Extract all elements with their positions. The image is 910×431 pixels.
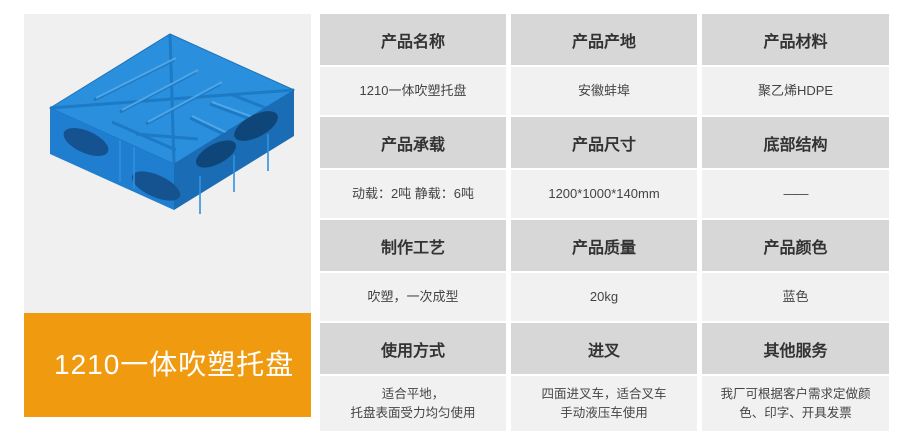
spec-value-cell: 聚乙烯HDPE	[702, 67, 889, 115]
spec-header-cell: 产品质量	[511, 220, 697, 271]
spec-value-cell: ——	[702, 170, 889, 218]
spec-value-line: 托盘表面受力均匀使用	[350, 404, 475, 422]
product-title: 1210一体吹塑托盘	[54, 351, 294, 379]
spec-header-cell: 产品颜色	[702, 220, 889, 271]
table-row: 适合平地， 托盘表面受力均匀使用 四面进叉车，适合叉车 手动液压车使用 我厂可根…	[320, 376, 889, 431]
spec-header-cell: 进叉	[511, 323, 697, 374]
table-row: 产品名称 产品产地 产品材料	[320, 14, 889, 65]
spec-header-cell: 其他服务	[702, 323, 889, 374]
spec-header-cell: 产品名称	[320, 14, 506, 65]
spec-value-cell: 我厂可根据客户需求定做颜 色、印字、开具发票	[702, 376, 889, 431]
spec-value-cell: 蓝色	[702, 273, 889, 321]
table-row: 1210一体吹塑托盘 安徽蚌埠 聚乙烯HDPE	[320, 67, 889, 115]
spec-value-cell: 1200*1000*140mm	[511, 170, 697, 218]
product-title-banner: 1210一体吹塑托盘	[24, 313, 311, 417]
spec-table: 产品名称 产品产地 产品材料 1210一体吹塑托盘 安徽蚌埠 聚乙烯HDPE 产…	[320, 14, 889, 415]
spec-value-cell: 20kg	[511, 273, 697, 321]
table-row: 动载：2吨 静载：6吨 1200*1000*140mm ——	[320, 170, 889, 218]
spec-header-cell: 产品产地	[511, 14, 697, 65]
spec-header-cell: 产品尺寸	[511, 117, 697, 168]
table-row: 吹塑，一次成型 20kg 蓝色	[320, 273, 889, 321]
spec-header-cell: 制作工艺	[320, 220, 506, 271]
spec-value-line: 四面进叉车，适合叉车	[541, 385, 666, 403]
table-row: 产品承载 产品尺寸 底部结构	[320, 117, 889, 168]
spec-header-cell: 使用方式	[320, 323, 506, 374]
table-row: 制作工艺 产品质量 产品颜色	[320, 220, 889, 271]
spec-value-cell: 动载：2吨 静载：6吨	[320, 170, 506, 218]
spec-header-cell: 产品承载	[320, 117, 506, 168]
spec-value-line: 色、印字、开具发票	[739, 404, 852, 422]
spec-value-line: 适合平地，	[382, 385, 445, 403]
spec-header-cell: 底部结构	[702, 117, 889, 168]
spec-header-cell: 产品材料	[702, 14, 889, 65]
product-photo	[24, 14, 311, 313]
spec-value-cell: 1210一体吹塑托盘	[320, 67, 506, 115]
product-media-panel: 1210一体吹塑托盘	[24, 14, 311, 417]
spec-value-line: 我厂可根据客户需求定做颜	[720, 385, 870, 403]
spec-value-cell: 适合平地， 托盘表面受力均匀使用	[320, 376, 506, 431]
pallet-illustration	[24, 14, 311, 313]
spec-value-cell: 四面进叉车，适合叉车 手动液压车使用	[511, 376, 697, 431]
spec-value-line: 手动液压车使用	[560, 404, 648, 422]
table-row: 使用方式 进叉 其他服务	[320, 323, 889, 374]
spec-value-cell: 吹塑，一次成型	[320, 273, 506, 321]
spec-value-cell: 安徽蚌埠	[511, 67, 697, 115]
